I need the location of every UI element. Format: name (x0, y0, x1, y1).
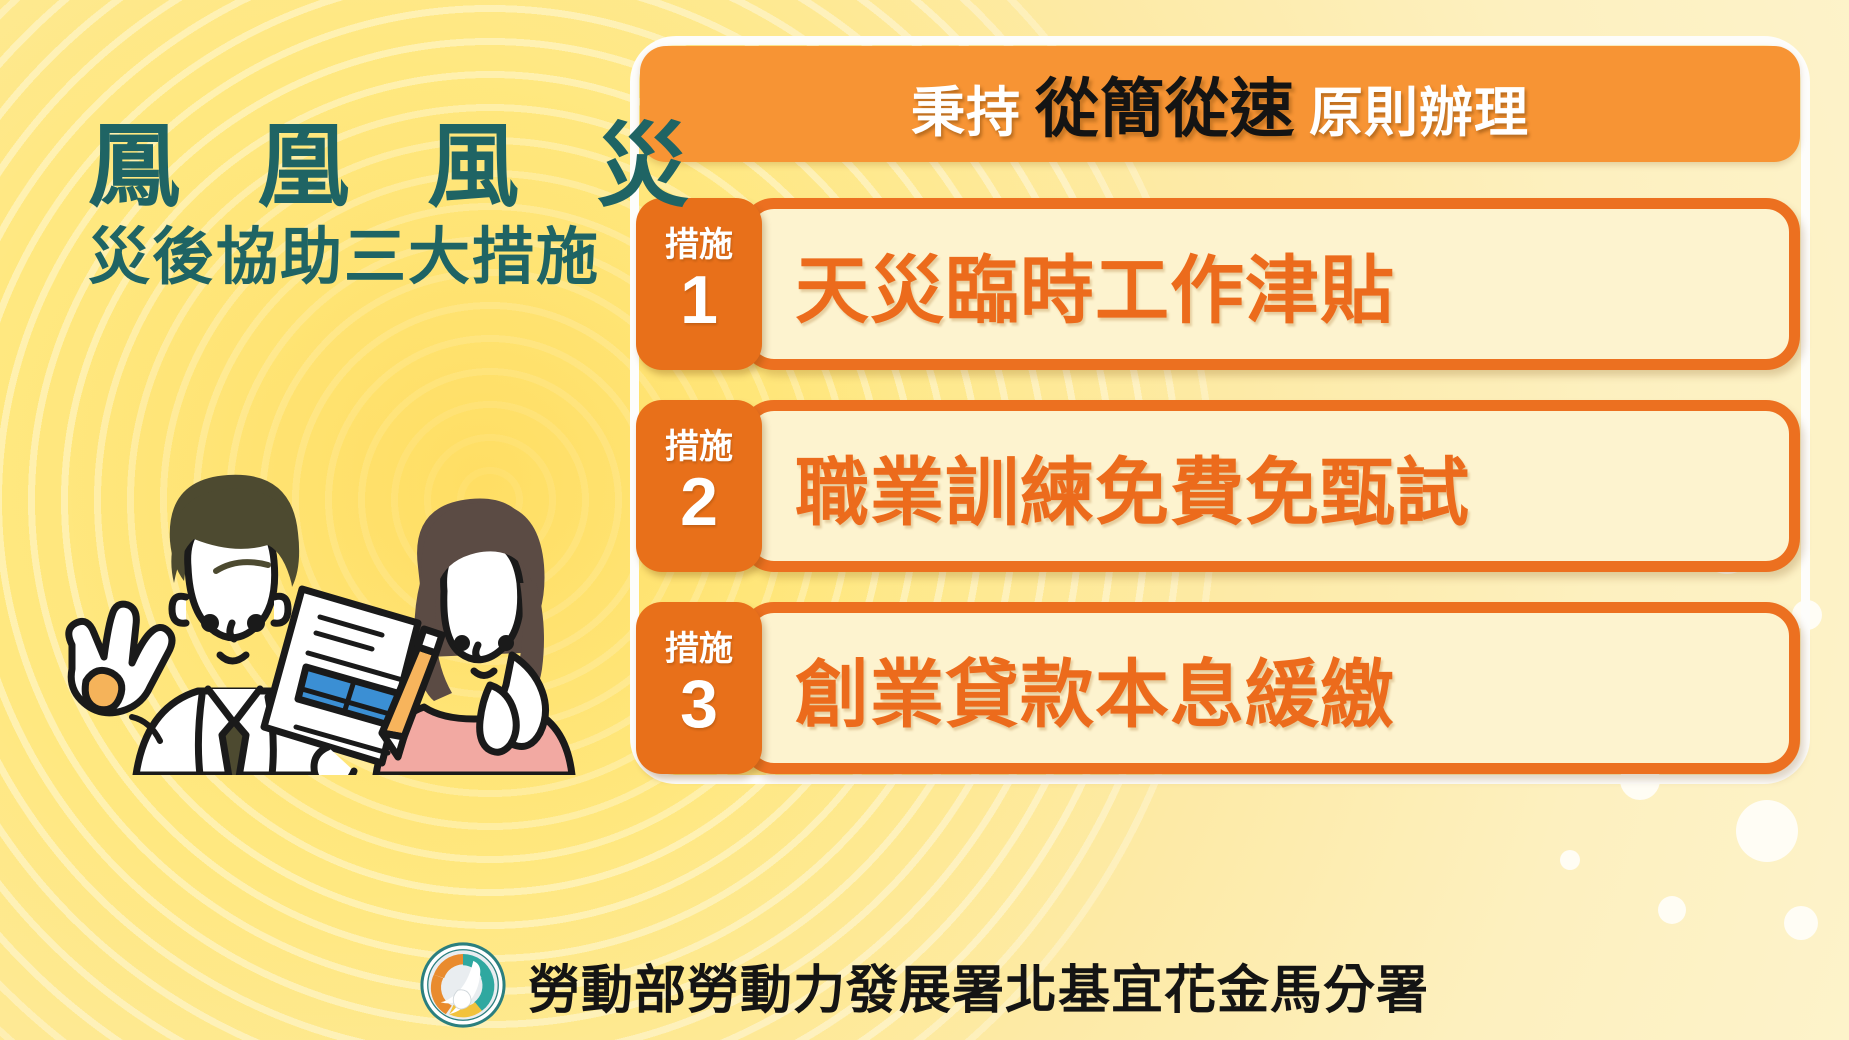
measure-badge-1: 措施 1 (636, 198, 762, 370)
measure-badge-label-3: 措施 (665, 632, 733, 668)
measure-badge-label-1: 措施 (665, 228, 733, 264)
page-subtitle: 災後協助三大措施 (88, 223, 648, 292)
measure-row-3[interactable]: 措施 3 創業貸款本息緩繳 (636, 602, 1800, 774)
measure-row-1[interactable]: 措施 1 天災臨時工作津貼 (636, 198, 1800, 370)
banner-highlight: 從簡從速 (1035, 58, 1295, 150)
measure-badge-label-2: 措施 (665, 430, 733, 466)
measure-badge-2: 措施 2 (636, 400, 762, 572)
poster-headline: 鳳 凰 風 災 災後協助三大措施 (88, 118, 648, 293)
footer: 勞動部勞動力發展署北基宜花金馬分署 (0, 942, 1849, 1028)
page-title: 鳳 凰 風 災 (88, 118, 648, 217)
two-office-workers-illustration (20, 355, 640, 775)
principle-banner: 秉持 從簡從速 原則辦理 (640, 46, 1800, 162)
measure-card-2: 職業訓練免費免甄試 (740, 400, 1800, 572)
measure-badge-number-2: 2 (680, 468, 718, 536)
banner-prefix: 秉持 (911, 68, 1021, 147)
measure-badge-number-3: 3 (680, 670, 718, 738)
measure-badge-number-1: 1 (680, 266, 718, 334)
measure-card-1: 天災臨時工作津貼 (740, 198, 1800, 370)
measure-badge-3: 措施 3 (636, 602, 762, 774)
banner-suffix: 原則辦理 (1309, 68, 1529, 147)
measure-title-2: 職業訓練免費免甄試 (795, 433, 1470, 540)
measure-title-3: 創業貸款本息緩繳 (795, 635, 1395, 742)
poster-root: 鳳 凰 風 災 災後協助三大措施 (0, 0, 1849, 1040)
principle-banner-text: 秉持 從簡從速 原則辦理 (911, 58, 1529, 150)
footer-agency-name: 勞動部勞動力發展署北基宜花金馬分署 (528, 948, 1429, 1023)
measure-card-3: 創業貸款本息緩繳 (740, 602, 1800, 774)
measure-row-2[interactable]: 措施 2 職業訓練免費免甄試 (636, 400, 1800, 572)
workforce-development-agency-logo (420, 942, 506, 1028)
measure-title-1: 天災臨時工作津貼 (795, 231, 1395, 338)
measures-panel: 秉持 從簡從速 原則辦理 措施 1 天災臨時工作津貼 措施 2 職業訓練免費免甄… (628, 28, 1818, 788)
